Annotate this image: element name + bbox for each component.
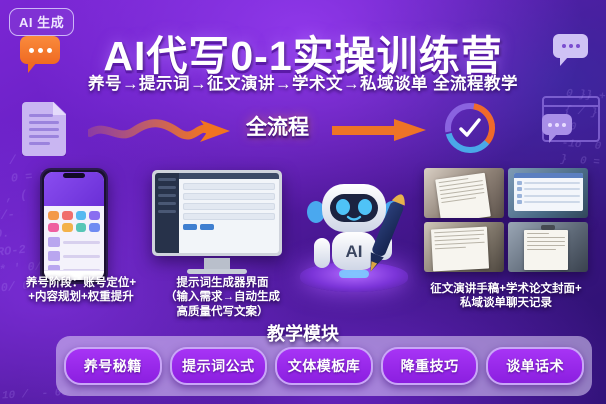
app-icon-grid (44, 206, 104, 235)
phone-caption: 养号阶段：账号定位+ +内容规划+权重提升 (6, 276, 156, 305)
phone-notch (63, 173, 85, 178)
wavy-arrow-icon (88, 118, 238, 144)
module-pill-reduce[interactable]: 降重技巧 (381, 347, 479, 385)
process-strip: 全流程 (0, 96, 606, 160)
module-pill-yanghao[interactable]: 养号秘籍 (64, 347, 162, 385)
progress-ring-icon (440, 98, 500, 158)
module-pill-template[interactable]: 文体模板库 (275, 347, 373, 385)
flow-label: 全流程 (246, 111, 309, 141)
monitor-caption: 提示词生成器界面 （输入需求→自动生成 高质量代写文案） (150, 276, 295, 319)
photo-chat-window (508, 168, 588, 218)
photo-manuscript (424, 168, 504, 218)
module-pill-prompt[interactable]: 提示词公式 (170, 347, 268, 385)
phone-mockup (40, 168, 108, 284)
arrow-right-icon (332, 118, 428, 142)
modules-title: 教学模块 (0, 320, 606, 346)
promo-poster: 0 / } 0 = 7 : - , ( //- 0. RO-2 * ' 0/ 0… (0, 0, 606, 404)
monitor-base (187, 269, 247, 274)
document-icon (22, 102, 66, 156)
monitor-screen (155, 173, 279, 253)
module-pill-sales[interactable]: 谈单话术 (486, 347, 584, 385)
chat-window (514, 173, 583, 211)
monitor-mockup (152, 170, 282, 256)
list-item (44, 249, 104, 263)
clipboard-clip-icon (541, 225, 555, 230)
phone-screen (44, 172, 104, 280)
admin-sidebar (155, 173, 179, 253)
modules-pill-list: 养号秘籍 提示词公式 文体模板库 降重技巧 谈单话术 (64, 344, 584, 388)
page-subtitle: 养号→提示词→征文演讲→学术文→私域谈单 全流程教学 (0, 70, 606, 94)
ai-robot-mascot: AI (296, 160, 414, 288)
admin-form (179, 173, 279, 253)
list-item (44, 235, 104, 249)
admin-topbar (179, 173, 279, 179)
photo-handwritten-notes (424, 222, 504, 272)
form-buttons (183, 224, 275, 230)
robot-chest-label: AI (346, 242, 363, 261)
photo-collage (424, 168, 588, 272)
photo-clipboard-laptop (508, 222, 588, 272)
photos-caption: 征文演讲手稿+学术论文封面+ 私域谈单聊天记录 (406, 282, 606, 311)
